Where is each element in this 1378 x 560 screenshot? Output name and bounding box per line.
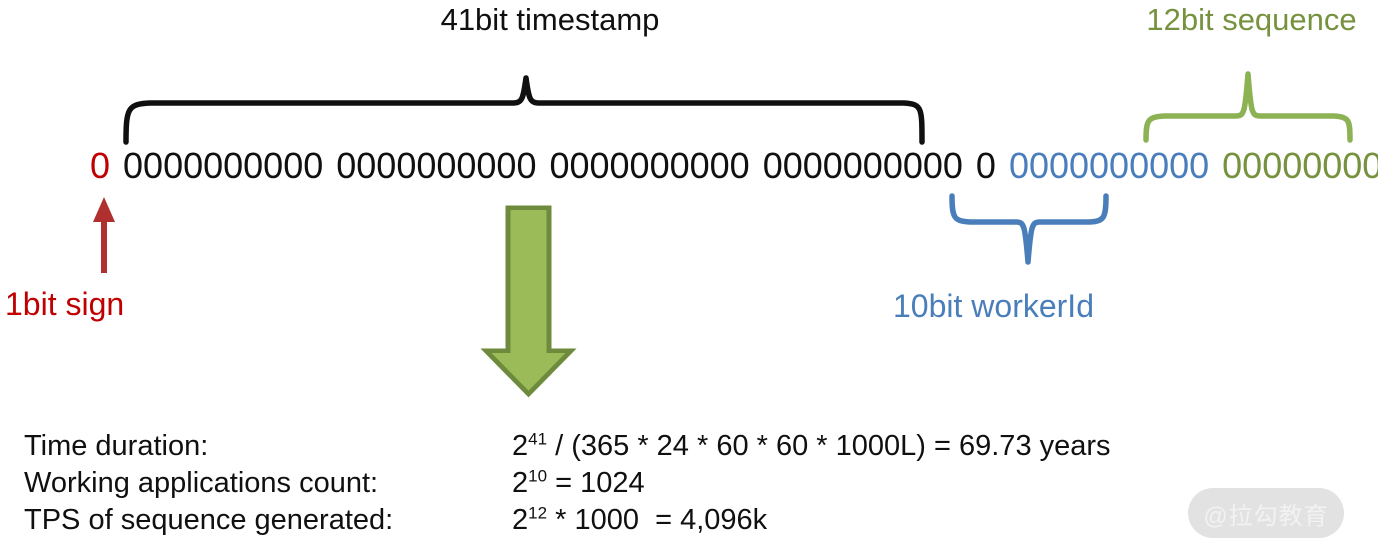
bit-group-timestamp-4: 0000000000: [763, 145, 963, 186]
summary-rest-0: / (365 * 24 * 60 * 60 * 1000L) = 69.73 y…: [547, 430, 1110, 462]
summary-base-1: 2: [512, 467, 528, 499]
bit-group-sequence-1: 0000000000: [1222, 145, 1378, 186]
summary-down-arrow-shape: [486, 208, 571, 394]
bit-group-timestamp-5: 0: [976, 145, 996, 186]
bit-group-timestamp-2: 0000000000: [336, 145, 536, 186]
sequence-section-label: 12bit sequence: [1125, 0, 1378, 40]
workerid-callout-label: 10bit workerId: [893, 285, 1094, 327]
watermark-badge: @拉勾教育: [1188, 488, 1344, 538]
summary-down-arrow-icon: [485, 230, 571, 389]
sign-arrow-icon: [93, 197, 115, 273]
timestamp-section-label: 41bit timestamp: [0, 0, 1100, 40]
summary-block: Time duration: 241 / (365 * 24 * 60 * 60…: [24, 428, 1364, 539]
summary-exp-2: 12: [528, 503, 547, 522]
summary-rest-1: = 1024: [547, 467, 645, 499]
sign-callout-label: 1bit sign: [5, 283, 124, 325]
summary-expr-time-duration: 241 / (365 * 24 * 60 * 60 * 1000L) = 69.…: [512, 428, 1111, 465]
summary-exp-1: 10: [528, 466, 547, 485]
summary-base-2: 2: [512, 504, 528, 536]
workerid-brace-icon: [952, 196, 1106, 262]
bit-group-workerid-1: 0000000000: [1009, 145, 1209, 186]
summary-row-working-applications: Working applications count: 210 = 1024: [24, 465, 1364, 502]
bit-group-timestamp-3: 0000000000: [549, 145, 749, 186]
summary-row-time-duration: Time duration: 241 / (365 * 24 * 60 * 60…: [24, 428, 1364, 465]
bit-layout-row: 0000000000000000000000000000000000000000…: [90, 143, 1378, 189]
summary-expr-tps: 212 * 1000 = 4,096k: [512, 502, 767, 539]
bit-group-sign: 0: [90, 145, 110, 186]
sequence-brace-icon: [1146, 74, 1350, 140]
summary-term-time-duration: Time duration:: [24, 428, 512, 465]
summary-row-tps: TPS of sequence generated: 212 * 1000 = …: [24, 502, 1364, 539]
watermark-text: @拉勾教育: [1203, 496, 1328, 531]
summary-base-0: 2: [512, 430, 528, 462]
bit-group-timestamp-1: 0000000000: [123, 145, 323, 186]
summary-term-tps: TPS of sequence generated:: [24, 502, 512, 539]
summary-rest-2: * 1000 = 4,096k: [547, 504, 767, 536]
summary-expr-working-applications: 210 = 1024: [512, 465, 645, 502]
summary-exp-0: 41: [528, 429, 547, 448]
summary-term-working-applications: Working applications count:: [24, 465, 512, 502]
timestamp-brace-icon: [126, 78, 922, 142]
